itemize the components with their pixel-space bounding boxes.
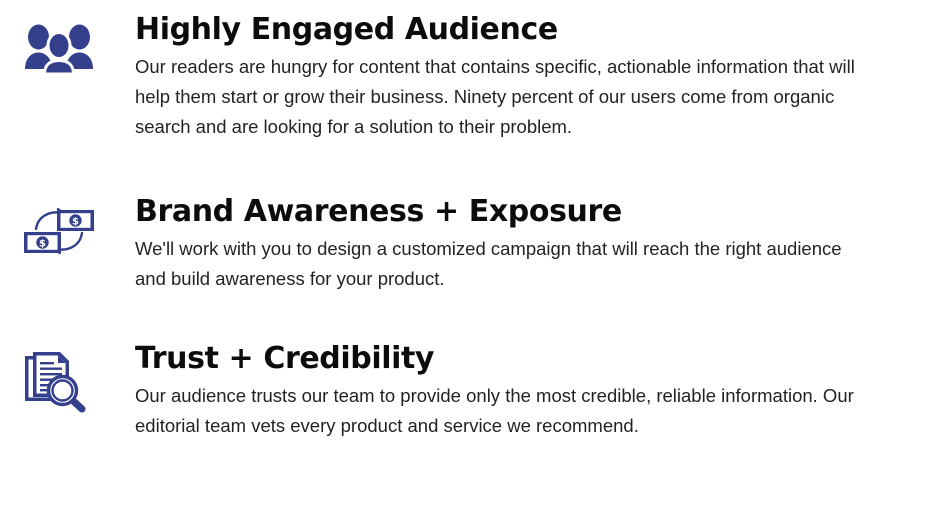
- feature-text-cell: Trust + Credibility Our audience trusts …: [135, 343, 925, 441]
- feature-item-highly-engaged-audience: Highly Engaged Audience Our readers are …: [0, 14, 952, 142]
- feature-icon-cell: [0, 343, 135, 413]
- svg-text:$: $: [39, 238, 46, 249]
- feature-title: Trust + Credibility: [135, 343, 865, 375]
- features-list: Highly Engaged Audience Our readers are …: [0, 0, 952, 530]
- money-exchange-icon: $ $: [22, 204, 96, 260]
- feature-text-cell: Brand Awareness + Exposure We'll work wi…: [135, 196, 935, 294]
- feature-title: Brand Awareness + Exposure: [135, 196, 875, 228]
- feature-text-cell: Highly Engaged Audience Our readers are …: [135, 14, 952, 142]
- feature-description: Our audience trusts our team to provide …: [135, 381, 865, 441]
- feature-icon-cell: [0, 14, 135, 74]
- feature-item-trust-credibility: Trust + Credibility Our audience trusts …: [0, 343, 925, 441]
- feature-icon-cell: $ $: [0, 196, 135, 260]
- feature-title: Highly Engaged Audience: [135, 14, 892, 46]
- documents-magnifier-icon: [22, 351, 88, 413]
- feature-item-brand-awareness-exposure: $ $ Brand Awareness + Exposure We'll wor…: [0, 196, 935, 294]
- svg-text:$: $: [72, 216, 79, 227]
- feature-description: We'll work with you to design a customiz…: [135, 234, 875, 294]
- feature-description: Our readers are hungry for content that …: [135, 52, 892, 142]
- group-people-icon: [22, 22, 96, 74]
